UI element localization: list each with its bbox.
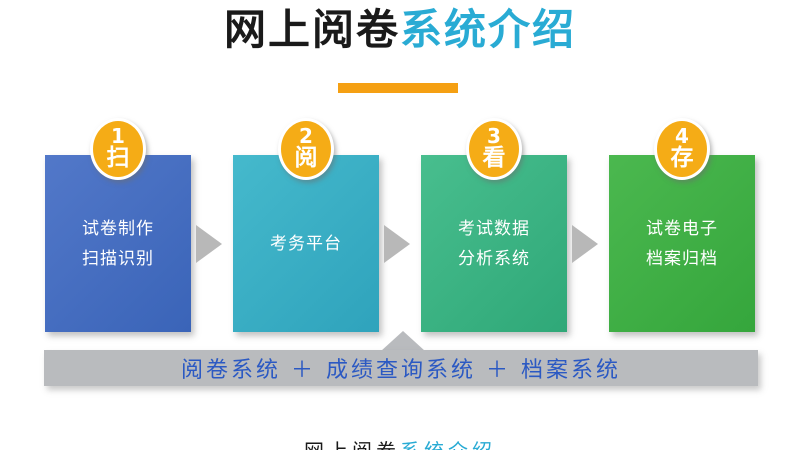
flow-arrow-right-icon-1 [196, 225, 222, 263]
step-badge-4-number: 4 [657, 126, 707, 146]
flow-step-1-label: 试卷制作 扫描识别 [45, 214, 191, 274]
flow-step-2-label: 考务平台 [233, 229, 379, 259]
title-underline-bar [338, 83, 458, 93]
step-badge-2-character: 阅 [281, 146, 331, 171]
flow-step-3-label-line2: 分析系统 [421, 244, 567, 274]
flow-step-4-label-line2: 档案归档 [609, 244, 755, 274]
flow-step-box-3[interactable]: 考试数据 分析系统 [421, 155, 567, 332]
page-title-accent: 系统介绍 [400, 5, 576, 54]
flow-arrow-right-icon-2 [384, 225, 410, 263]
flow-step-3-label-line1: 考试数据 [421, 214, 567, 244]
flow-step-3-label: 考试数据 分析系统 [421, 214, 567, 274]
flow-arrow-right-icon-3 [572, 225, 598, 263]
step-badge-4-character: 存 [657, 146, 707, 171]
flow-step-2-label-line1: 考务平台 [233, 229, 379, 259]
step-badge-3-number: 3 [469, 126, 519, 146]
step-badge-2-number: 2 [281, 126, 331, 146]
page-title: 网上阅卷系统介绍 [0, 2, 800, 58]
page-title-area: 网上阅卷系统介绍 [0, 2, 800, 58]
flow-step-1-label-line2: 扫描识别 [45, 244, 191, 274]
footer-text: 网上阅卷系统介绍 [0, 438, 800, 450]
flow-step-4-label-line1: 试卷电子 [609, 214, 755, 244]
summary-bar-text: 阅卷系统 ＋ 成绩查询系统 ＋ 档案系统 [44, 352, 758, 384]
footer-text-primary: 网上阅卷 [304, 439, 400, 450]
page-title-primary: 网上阅卷 [224, 5, 400, 54]
flow-step-4-label: 试卷电子 档案归档 [609, 214, 755, 274]
step-badge-1-number: 1 [93, 126, 143, 146]
flow-step-box-1[interactable]: 试卷制作 扫描识别 [45, 155, 191, 332]
step-badge-1-character: 扫 [93, 146, 143, 171]
footer-text-accent: 系统介绍 [400, 439, 496, 450]
step-badge-3-character: 看 [469, 146, 519, 171]
step-badge-2: 2 阅 [278, 118, 334, 180]
flow-step-1-label-line1: 试卷制作 [45, 214, 191, 244]
step-badge-4: 4 存 [654, 118, 710, 180]
step-badge-3: 3 看 [466, 118, 522, 180]
footer-clipped-area: 网上阅卷系统介绍 [0, 438, 800, 450]
flow-arrow-up-icon [381, 331, 425, 351]
summary-bar: 阅卷系统 ＋ 成绩查询系统 ＋ 档案系统 [44, 350, 758, 386]
flow-step-box-4[interactable]: 试卷电子 档案归档 [609, 155, 755, 332]
flow-step-box-2[interactable]: 考务平台 [233, 155, 379, 332]
step-badge-1: 1 扫 [90, 118, 146, 180]
